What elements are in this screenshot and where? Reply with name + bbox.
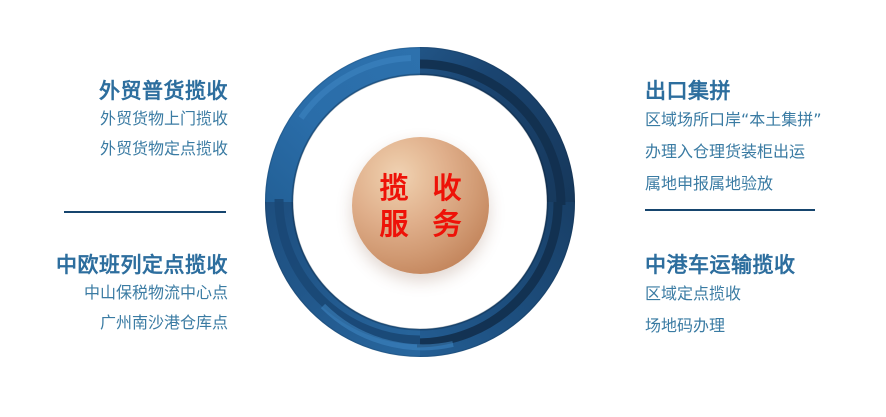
quadrant-bottom-right: 中港车运输揽收 区域定点揽收 场地码办理 <box>640 252 886 342</box>
quadrant-top-left: 外贸普货揽收 外贸货物上门揽收 外贸货物定点揽收 <box>0 78 250 164</box>
sphere-line-2: 服 务 <box>372 206 468 242</box>
quadrant-bottom-left-item-1: 中山保税物流中心点 <box>0 278 228 308</box>
quadrant-top-right-title: 出口集拼 <box>645 78 886 104</box>
center-sphere-label: 揽 收 服 务 <box>352 137 489 274</box>
quadrant-top-right-item-2: 办理入仓理货装柜出运 <box>645 136 886 168</box>
quadrant-top-left-item-2: 外贸货物定点揽收 <box>0 134 228 164</box>
divider-left <box>64 211 226 213</box>
quadrant-top-right-item-3: 属地申报属地验放 <box>645 168 886 200</box>
quadrant-bottom-left: 中欧班列定点揽收 中山保税物流中心点 广州南沙港仓库点 <box>0 252 250 338</box>
quadrant-bottom-right-item-2: 场地码办理 <box>645 310 886 342</box>
quadrant-bottom-right-title: 中港车运输揽收 <box>645 252 886 278</box>
sphere-line-1: 揽 收 <box>372 170 468 206</box>
quadrant-bottom-right-item-1: 区域定点揽收 <box>645 278 886 310</box>
quadrant-bottom-left-title: 中欧班列定点揽收 <box>0 252 228 278</box>
quadrant-top-left-item-1: 外贸货物上门揽收 <box>0 104 228 134</box>
quadrant-top-right: 出口集拼 区域场所口岸“本土集拼” 办理入仓理货装柜出运 属地申报属地验放 <box>640 78 886 200</box>
quadrant-bottom-left-item-2: 广州南沙港仓库点 <box>0 308 228 338</box>
quadrant-top-right-item-1: 区域场所口岸“本土集拼” <box>645 104 886 136</box>
center-sphere-icon: 揽 收 服 务 <box>352 137 489 274</box>
quadrant-top-left-title: 外贸普货揽收 <box>0 78 228 104</box>
infographic-canvas: 揽 收 服 务 外贸普货揽收 外贸货物上门揽收 外贸货物定点揽收 中欧班列定点揽… <box>0 0 886 417</box>
divider-right <box>645 209 815 211</box>
